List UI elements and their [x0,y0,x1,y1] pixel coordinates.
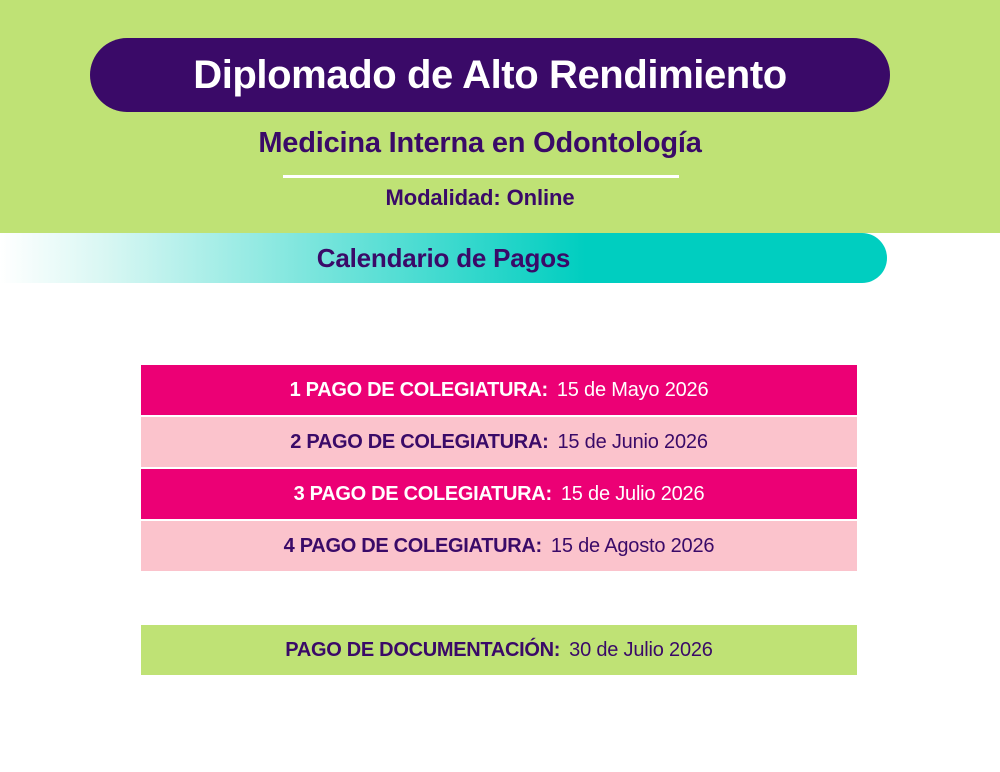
payment-row-label: 3 PAGO DE COLEGIATURA: [294,483,552,506]
payment-row-label: 1 PAGO DE COLEGIATURA: [290,379,548,402]
payment-row: 1 PAGO DE COLEGIATURA: 15 de Mayo 2026 [141,365,857,415]
payment-row-date: 15 de Julio 2026 [561,483,705,506]
calendar-section-bar: Calendario de Pagos [0,233,887,283]
payment-row: 2 PAGO DE COLEGIATURA: 15 de Junio 2026 [141,417,857,467]
payment-row-label: 4 PAGO DE COLEGIATURA: [284,535,542,558]
program-modality: Modalidad: Online [0,186,960,210]
page-title: Diplomado de Alto Rendimiento [193,55,787,95]
payment-row-date: 15 de Mayo 2026 [557,379,709,402]
payment-row: 3 PAGO DE COLEGIATURA: 15 de Julio 2026 [141,469,857,519]
payment-rows-list: 1 PAGO DE COLEGIATURA: 15 de Mayo 2026 2… [141,365,857,573]
program-title-pill: Diplomado de Alto Rendimiento [90,38,890,112]
title-divider [283,175,679,178]
payment-row-date: 15 de Junio 2026 [557,431,707,454]
payment-row-label: 2 PAGO DE COLEGIATURA: [290,431,548,454]
calendar-section-title: Calendario de Pagos [317,245,570,271]
payment-row: 4 PAGO DE COLEGIATURA: 15 de Agosto 2026 [141,521,857,571]
program-subtitle: Medicina Interna en Odontología [0,128,960,160]
documentation-payment-row: PAGO DE DOCUMENTACIÓN: 30 de Julio 2026 [141,625,857,675]
documentation-row-label: PAGO DE DOCUMENTACIÓN: [285,639,560,662]
header-band: Diplomado de Alto Rendimiento Medicina I… [0,0,1000,233]
documentation-row-date: 30 de Julio 2026 [569,639,713,662]
payment-schedule-page: Diplomado de Alto Rendimiento Medicina I… [0,0,1000,772]
payment-row-date: 15 de Agosto 2026 [551,535,714,558]
